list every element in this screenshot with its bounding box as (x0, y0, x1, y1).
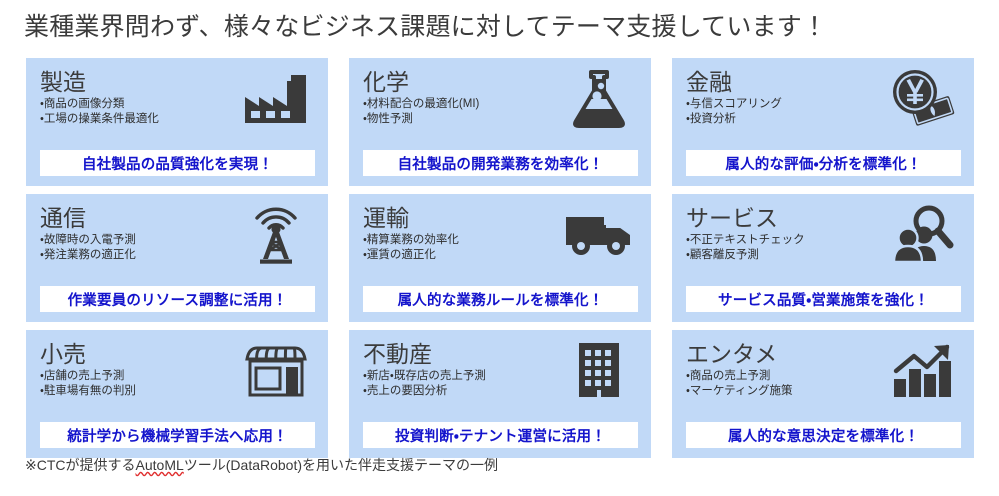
industry-highlight: 自社製品の開発業務を効率化！ (363, 150, 638, 176)
factory-icon (240, 66, 312, 132)
industry-card[interactable]: サービス ・不正テキストチェック ・顧客離反予測 サービス品質・営業施策を強化！ (672, 194, 974, 322)
storefront-icon (240, 338, 312, 404)
yen-coin-cash-icon (886, 66, 958, 132)
industry-highlight: 属人的な意思決定を標準化！ (686, 422, 961, 448)
delivery-truck-icon (563, 202, 635, 268)
industry-highlight: 作業要員のリソース調整に活用！ (40, 286, 315, 312)
industry-card[interactable]: 小売 ・店舗の売上予測 ・駐車場有無の判別 (26, 330, 328, 458)
antenna-tower-icon (240, 202, 312, 268)
page-title: 業種業界問わず、様々なビジネス課題に対してテーマ支援しています！ (24, 10, 827, 44)
industry-highlight: 統計学から機械学習手法へ応用！ (40, 422, 315, 448)
flask-icon (563, 66, 635, 132)
industry-card[interactable]: 製造 ・商品の画像分類 ・工場の操業条件最適化 自社製品の品質強化を実現！ (26, 58, 328, 186)
footnote-prefix: ※CTCが提供する (25, 457, 136, 473)
office-building-icon (563, 338, 635, 404)
footnote-suffix: ツール(DataRobot)を用いた伴走支援テーマの一例 (184, 457, 498, 473)
industry-card[interactable]: 通信 ・故障時の入電予測 ・発注業務の適正化 (26, 194, 328, 322)
industry-highlight: 投資判断・テナント運営に活用！ (363, 422, 638, 448)
slide-root: 業種業界問わず、様々なビジネス課題に対してテーマ支援しています！ 製造 ・商品の… (0, 0, 999, 496)
industry-card[interactable]: 運輸 ・精算業務の効率化 ・運賃の適正化 属人的な業務ルールを標準化！ (349, 194, 651, 322)
industry-highlight: 属人的な業務ルールを標準化！ (363, 286, 638, 312)
industry-highlight: 属人的な評価・分析を標準化！ (686, 150, 961, 176)
industry-card[interactable]: 不動産 ・新店・既存店の売上予測 ・売上の要因分析 投資判断・テナン (349, 330, 651, 458)
footnote: ※CTCが提供するAutoMLツール(DataRobot)を用いた伴走支援テーマ… (25, 455, 498, 475)
industry-card-grid: 製造 ・商品の画像分類 ・工場の操業条件最適化 自社製品の品質強化を実現！ 化学 (26, 58, 974, 458)
industry-highlight: 自社製品の品質強化を実現！ (40, 150, 315, 176)
industry-card[interactable]: 金融 ・与信スコアリング ・投資分析 (672, 58, 974, 186)
footnote-automl-term: AutoML (136, 457, 184, 473)
people-magnifier-icon (886, 202, 958, 268)
growth-bar-chart-icon (886, 338, 958, 404)
industry-highlight: サービス品質・営業施策を強化！ (686, 286, 961, 312)
industry-card[interactable]: エンタメ ・商品の売上予測 ・マーケティング施策 属人的な意思決定を標準 (672, 330, 974, 458)
industry-card[interactable]: 化学 ・材料配合の最適化(MI) ・物性予測 自社製品の開発業務を効率化！ (349, 58, 651, 186)
